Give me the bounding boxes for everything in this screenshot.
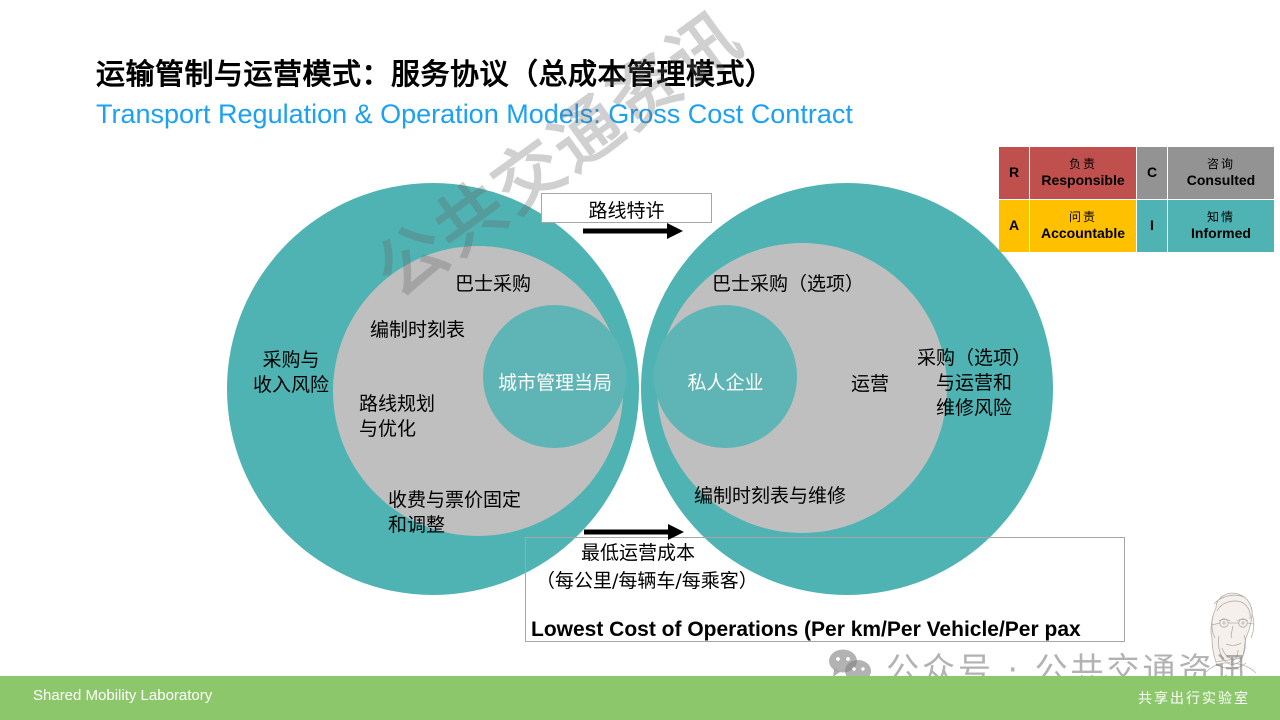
arrow-right-icon-bottom: [584, 523, 684, 541]
raci-legend: R 负责 Responsible C 咨询 Consulted A 问责 Acc…: [998, 146, 1275, 253]
left-label-route-planning: 路线规划 与优化: [359, 392, 509, 442]
raci-responsible-cn: 负责: [1033, 157, 1133, 172]
right-core-label-private-operator: 私人企业: [654, 371, 797, 396]
footer-lab-name-cn: 共享出行实验室: [1138, 688, 1250, 708]
portrait-sketch-image: [1186, 588, 1268, 674]
left-core-label-authority: 城市管理当局: [484, 371, 626, 396]
right-label-scheduling-maintenance: 编制时刻表与维修: [694, 484, 894, 509]
raci-informed-cn: 知情: [1171, 210, 1271, 225]
slide-canvas: 运输管制与运营模式：服务协议（总成本管理模式） Transport Regula…: [0, 0, 1280, 720]
footer-bar: Shared Mobility Laboratory 共享出行实验室: [0, 676, 1280, 720]
raci-accountable-en: Accountable: [1033, 225, 1133, 243]
page-title: 运输管制与运营模式：服务协议（总成本管理模式） Transport Regula…: [96, 55, 996, 133]
raci-informed-en: Informed: [1171, 225, 1271, 243]
lowest-cost-cn-line2: （每公里/每辆车/每乘客）: [536, 570, 758, 592]
title-english: Transport Regulation & Operation Models:…: [96, 96, 996, 132]
arrow-right-icon-top: [583, 222, 683, 240]
raci-key-a: A: [999, 200, 1030, 253]
footer-lab-name-en: Shared Mobility Laboratory: [33, 687, 212, 704]
right-label-operations: 运营: [838, 372, 902, 397]
lowest-cost-english: Lowest Cost of Operations (Per km/Per Ve…: [531, 618, 1131, 642]
right-outer-label-risk: 采购（选项） 与运营和 维修风险: [910, 346, 1038, 421]
raci-key-i: I: [1137, 200, 1168, 253]
raci-value-consulted: 咨询 Consulted: [1168, 147, 1275, 200]
raci-value-informed: 知情 Informed: [1168, 200, 1275, 253]
lowest-cost-cn-line1: 最低运营成本: [536, 540, 956, 568]
right-label-bus-procurement: 巴士采购（选项）: [688, 272, 888, 297]
title-chinese: 运输管制与运营模式：服务协议（总成本管理模式）: [96, 55, 996, 94]
diagonal-watermark: 公共交通资讯: [352, 0, 766, 316]
raci-key-c: C: [1137, 147, 1168, 200]
raci-value-accountable: 问责 Accountable: [1030, 200, 1137, 253]
raci-consulted-en: Consulted: [1171, 172, 1271, 190]
left-label-scheduling: 编制时刻表: [370, 318, 520, 343]
left-label-fare-setting: 收费与票价固定 和调整: [388, 488, 578, 538]
lowest-cost-chinese: 最低运营成本（每公里/每辆车/每乘客）: [536, 540, 956, 595]
raci-accountable-cn: 问责: [1033, 210, 1133, 225]
raci-legend-row: R 负责 Responsible C 咨询 Consulted: [999, 147, 1275, 200]
left-outer-label-risk: 采购与 收入风险: [236, 348, 346, 398]
raci-value-responsible: 负责 Responsible: [1030, 147, 1137, 200]
raci-key-r: R: [999, 147, 1030, 200]
left-label-bus-procurement: 巴士采购: [408, 272, 578, 297]
raci-legend-row: A 问责 Accountable I 知情 Informed: [999, 200, 1275, 253]
raci-responsible-en: Responsible: [1033, 172, 1133, 190]
raci-consulted-cn: 咨询: [1171, 157, 1271, 172]
route-franchise-label: 路线特许: [541, 196, 712, 223]
